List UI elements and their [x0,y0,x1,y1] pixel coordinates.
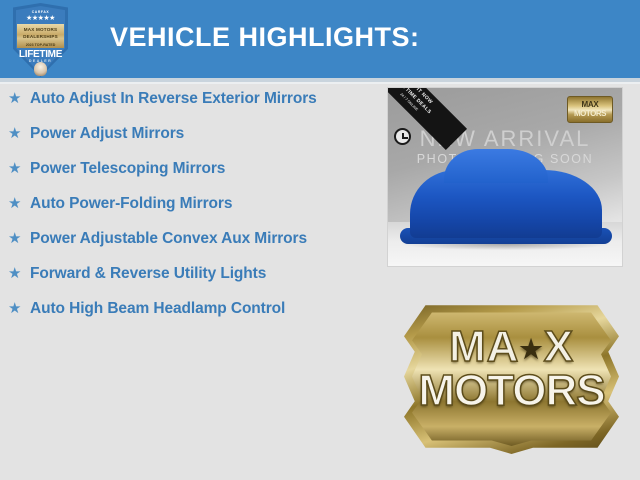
list-item: ★ Auto High Beam Headlamp Control [0,298,375,319]
list-item: ★ Power Adjustable Convex Aux Mirrors [0,228,375,249]
max-motors-logo[interactable]: MA★X MOTORS [404,299,619,454]
highlight-text: Power Adjust Mirrors [30,123,184,144]
logo-text-max: MA★X [404,325,619,371]
badge-dealer-name-line1: MAX MOTORS [17,24,64,33]
highlight-text: Auto Power-Folding Mirrors [30,193,232,214]
max-motors-watermark: MAX MOTORS [567,96,613,123]
highlight-text: Auto Adjust In Reverse Exterior Mirrors [30,88,317,109]
highlight-text: Power Telescoping Mirrors [30,158,225,179]
list-item: ★ Forward & Reverse Utility Lights [0,263,375,284]
star-bullet-icon: ★ [8,123,30,144]
star-bullet-icon: ★ [8,228,30,249]
badge-gold-plate: MAX MOTORS DEALERSHIPS 2023 TOP-RATED [17,24,64,48]
star-bullet-icon: ★ [8,298,30,319]
highlight-text: Power Adjustable Convex Aux Mirrors [30,228,307,249]
page-title: VEHICLE HIGHLIGHTS: [110,22,420,53]
covered-car-icon [410,170,602,238]
star-bullet-icon: ★ [8,88,30,109]
highlight-text: Auto High Beam Headlamp Control [30,298,285,319]
vehicle-photo-placeholder[interactable]: NEW ARRIVAL PHOTOS COMING SOON GET IT NO… [388,88,622,266]
badge-dog-icon [34,62,47,76]
badge-award-line: 2023 TOP-RATED [17,40,64,47]
watermark-line-2: MOTORS [568,109,612,118]
badge-stars-icon: ★★★★★ [13,15,68,23]
list-item: ★ Auto Power-Folding Mirrors [0,193,375,214]
highlight-text: Forward & Reverse Utility Lights [30,263,266,284]
star-bullet-icon: ★ [8,263,30,284]
list-item: ★ Power Adjust Mirrors [0,123,375,144]
list-item: ★ Auto Adjust In Reverse Exterior Mirror… [0,88,375,109]
star-bullet-icon: ★ [8,193,30,214]
logo-text-motors: MOTORS [404,369,619,413]
badge-dealer-name-line2: DEALERSHIPS [17,33,64,40]
list-item: ★ Power Telescoping Mirrors [0,158,375,179]
carfax-top-rated-dealer-badge: CARFAX ★★★★★ MAX MOTORS DEALERSHIPS 2023… [13,3,68,77]
clock-icon [394,128,411,145]
watermark-line-1: MAX [568,101,612,109]
badge-carfax-wordmark: CARFAX [13,10,68,14]
logo-star-icon: ★ [519,334,543,364]
vehicle-highlights-list: ★ Auto Adjust In Reverse Exterior Mirror… [0,88,375,333]
star-bullet-icon: ★ [8,158,30,179]
logo-max-prefix: MA [449,322,519,371]
logo-max-suffix: X [544,322,574,371]
header-divider-light [0,82,640,84]
